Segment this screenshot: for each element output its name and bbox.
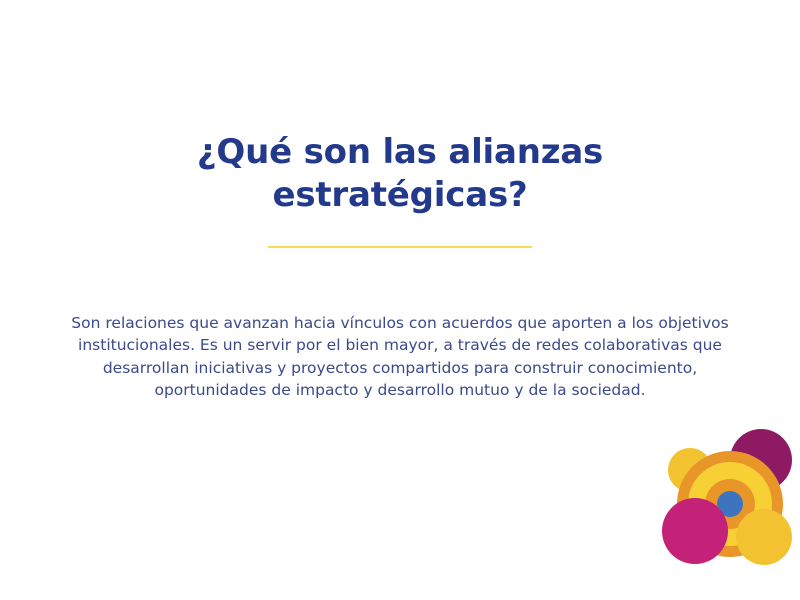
circles-cluster-svg (646, 420, 800, 580)
circles-cluster-graphic (646, 420, 800, 580)
body-paragraph: Son relaciones que avanzan hacia vínculo… (48, 312, 752, 403)
page-title: ¿Qué son las alianzas estratégicas? (100, 131, 700, 218)
gold-circle-bottom-right (736, 509, 792, 565)
slide-canvas: ¿Qué son las alianzas estratégicas? Son … (0, 0, 800, 600)
magenta-circle-bottom-left (662, 498, 728, 564)
gold-rule-line (268, 246, 532, 248)
divider (0, 239, 800, 255)
